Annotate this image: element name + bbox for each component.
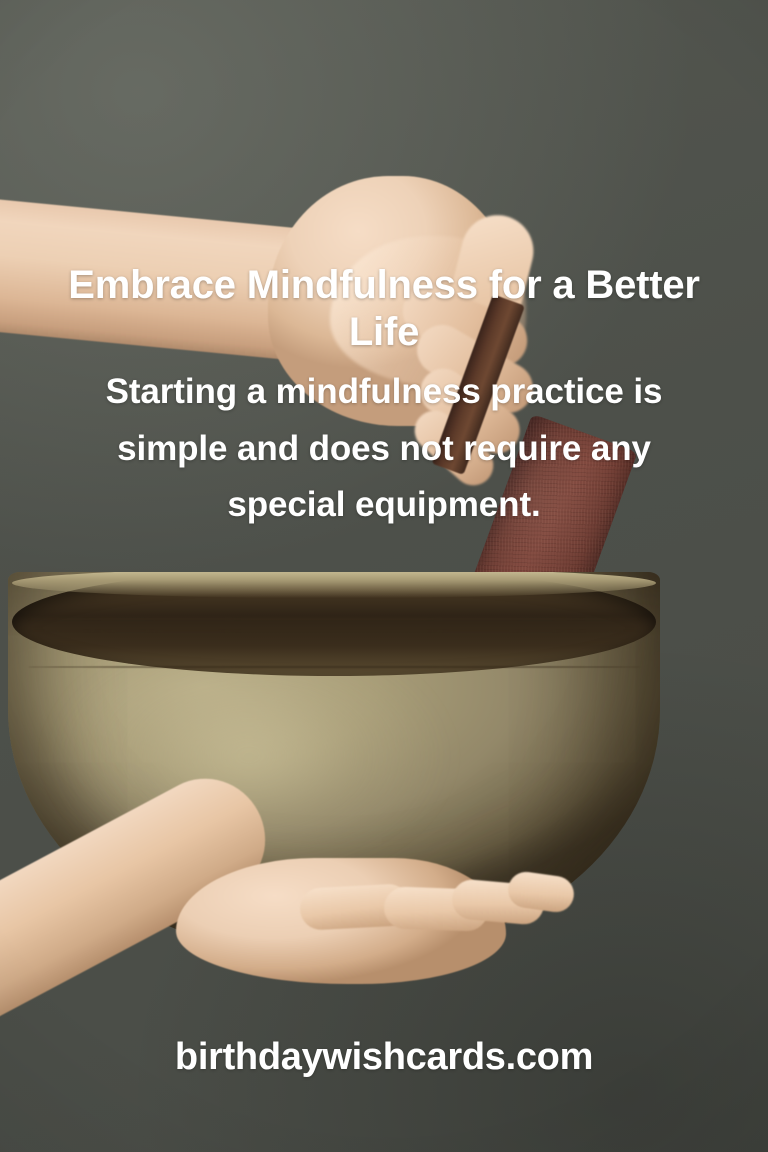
mindfulness-quote-card: Embrace Mindfulness for a Better Life St…: [0, 0, 768, 1152]
page-title: Embrace Mindfulness for a Better Life: [56, 262, 712, 356]
body-text: Starting a mindfulness practice is simpl…: [96, 364, 672, 534]
text-overlay-layer: Embrace Mindfulness for a Better Life St…: [0, 0, 768, 1152]
site-url-watermark: birthdaywishcards.com: [0, 1036, 768, 1079]
